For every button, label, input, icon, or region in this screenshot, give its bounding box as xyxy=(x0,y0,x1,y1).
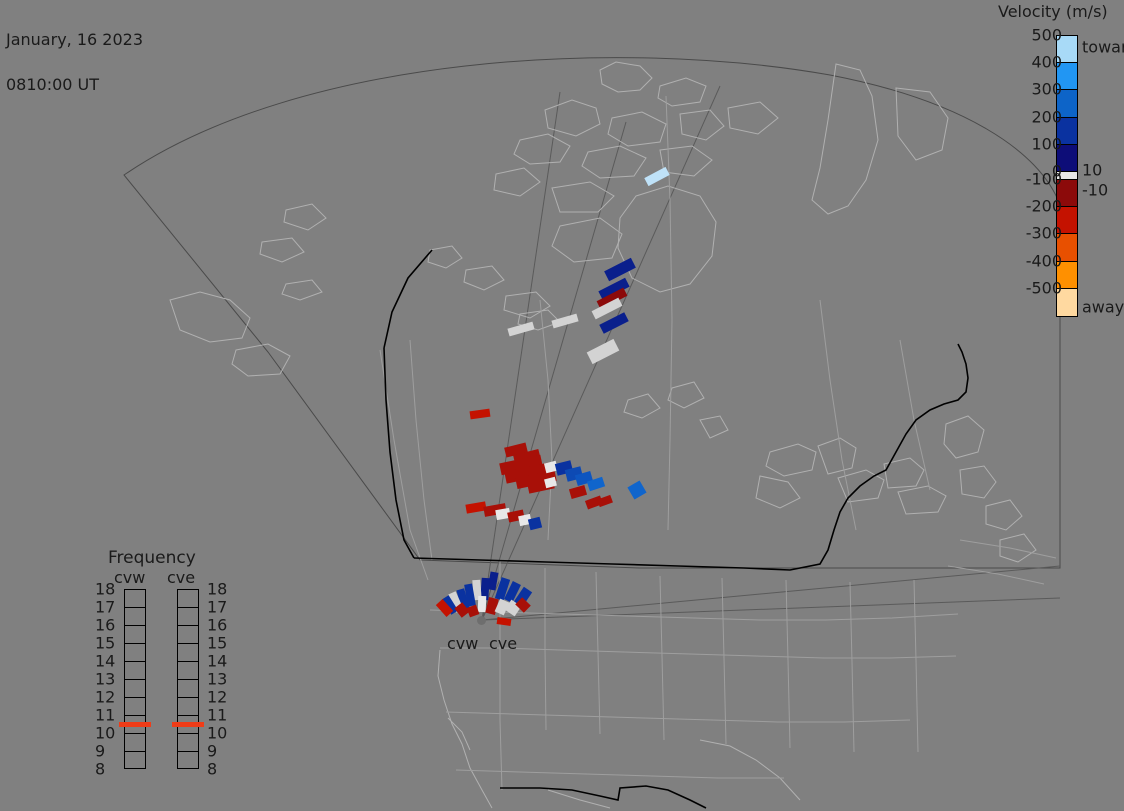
radar-site-label-cvw: cvw xyxy=(447,634,478,653)
frequency-tick-label: 16 xyxy=(95,616,115,635)
velocity-away-label: away xyxy=(1082,298,1124,317)
frequency-segment xyxy=(178,644,198,662)
velocity-cell xyxy=(497,617,512,626)
velocity-tick-label: 200 xyxy=(1031,107,1062,126)
frequency-tick-label: 8 xyxy=(207,760,217,779)
frequency-segment xyxy=(125,734,145,752)
frequency-tick-label: 15 xyxy=(95,634,115,653)
velocity-tick-label: 500 xyxy=(1031,26,1062,45)
frequency-marker-cve xyxy=(172,722,204,727)
frequency-tick-label: 13 xyxy=(207,670,227,689)
velocity-tick-label: -400 xyxy=(1026,251,1062,270)
frequency-tick-label: 11 xyxy=(95,706,115,725)
velocity-cell xyxy=(644,167,669,186)
frequency-column-label-cvw: cvw xyxy=(114,568,145,587)
frequency-segment xyxy=(178,608,198,626)
frequency-segment xyxy=(125,680,145,698)
frequency-tick-label: 16 xyxy=(207,616,227,635)
velocity-tick-label: -500 xyxy=(1026,278,1062,297)
velocity-cell xyxy=(599,312,628,334)
frequency-tick-label: 9 xyxy=(95,742,105,761)
velocity-tick-label: -300 xyxy=(1026,224,1062,243)
frequency-bar-cve xyxy=(177,589,199,769)
frequency-tick-label: 15 xyxy=(207,634,227,653)
frequency-tick-label: 12 xyxy=(95,688,115,707)
frequency-tick-label: 14 xyxy=(207,652,227,671)
timestamp-date: January, 16 2023 xyxy=(6,32,143,47)
velocity-cell xyxy=(569,485,587,499)
velocity-cell xyxy=(478,596,487,612)
frequency-segment xyxy=(125,626,145,644)
frequency-marker-cvw xyxy=(119,722,151,727)
velocity-legend-title: Velocity (m/s) xyxy=(998,2,1108,21)
frequency-tick-label: 14 xyxy=(95,652,115,671)
frequency-segment xyxy=(178,752,198,770)
frequency-tick-label: 17 xyxy=(95,598,115,617)
velocity-cell xyxy=(470,409,491,420)
frequency-segment xyxy=(125,662,145,680)
frequency-segment xyxy=(125,698,145,716)
frequency-tick-label: 17 xyxy=(207,598,227,617)
velocity-cell xyxy=(587,339,620,364)
superdarn-fan-plot: January, 16 2023 0810:00 UT Velocity (m/… xyxy=(0,0,1124,811)
frequency-bar-cvw xyxy=(124,589,146,769)
velocity-legend: Velocity (m/s) 5004003002001000-100-200-… xyxy=(990,2,1124,332)
velocity-cell xyxy=(604,258,636,281)
frequency-segment xyxy=(178,590,198,608)
frequency-tick-label: 10 xyxy=(95,724,115,743)
frequency-segment xyxy=(125,752,145,770)
frequency-tick-label: 18 xyxy=(207,580,227,599)
velocity-cell xyxy=(627,480,646,499)
frequency-column-label-cve: cve xyxy=(167,568,195,587)
timestamp: January, 16 2023 0810:00 UT xyxy=(6,2,143,122)
frequency-segment xyxy=(178,734,198,752)
velocity-cell xyxy=(551,314,578,329)
velocity-tick-label: -200 xyxy=(1026,197,1062,216)
frequency-tick-label: 11 xyxy=(207,706,227,725)
ground-scatter-lower-label: -10 xyxy=(1082,181,1108,200)
frequency-segment xyxy=(178,698,198,716)
frequency-tick-label: 8 xyxy=(95,760,105,779)
frequency-segment xyxy=(125,608,145,626)
frequency-tick-label: 13 xyxy=(95,670,115,689)
frequency-legend: Frequency cvw18171615141312111098cve1817… xyxy=(95,548,250,783)
frequency-segment xyxy=(125,590,145,608)
velocity-tick-label: 300 xyxy=(1031,80,1062,99)
frequency-tick-label: 12 xyxy=(207,688,227,707)
timestamp-time: 0810:00 UT xyxy=(6,77,143,92)
frequency-tick-label: 9 xyxy=(207,742,217,761)
frequency-segment xyxy=(178,626,198,644)
frequency-segment xyxy=(125,644,145,662)
frequency-legend-title: Frequency xyxy=(108,548,196,568)
frequency-segment xyxy=(178,680,198,698)
radar-site-label-cve: cve xyxy=(489,634,517,653)
ground-scatter-upper-label: 10 xyxy=(1082,161,1102,180)
velocity-toward-label: toward xyxy=(1082,38,1124,57)
velocity-tick-label: 100 xyxy=(1031,134,1062,153)
velocity-cell xyxy=(507,322,534,337)
velocity-tick-label: -100 xyxy=(1026,170,1062,189)
radar-site-marker xyxy=(477,616,486,625)
frequency-tick-label: 18 xyxy=(95,580,115,599)
velocity-tick-label: 400 xyxy=(1031,53,1062,72)
frequency-tick-label: 10 xyxy=(207,724,227,743)
frequency-segment xyxy=(178,662,198,680)
